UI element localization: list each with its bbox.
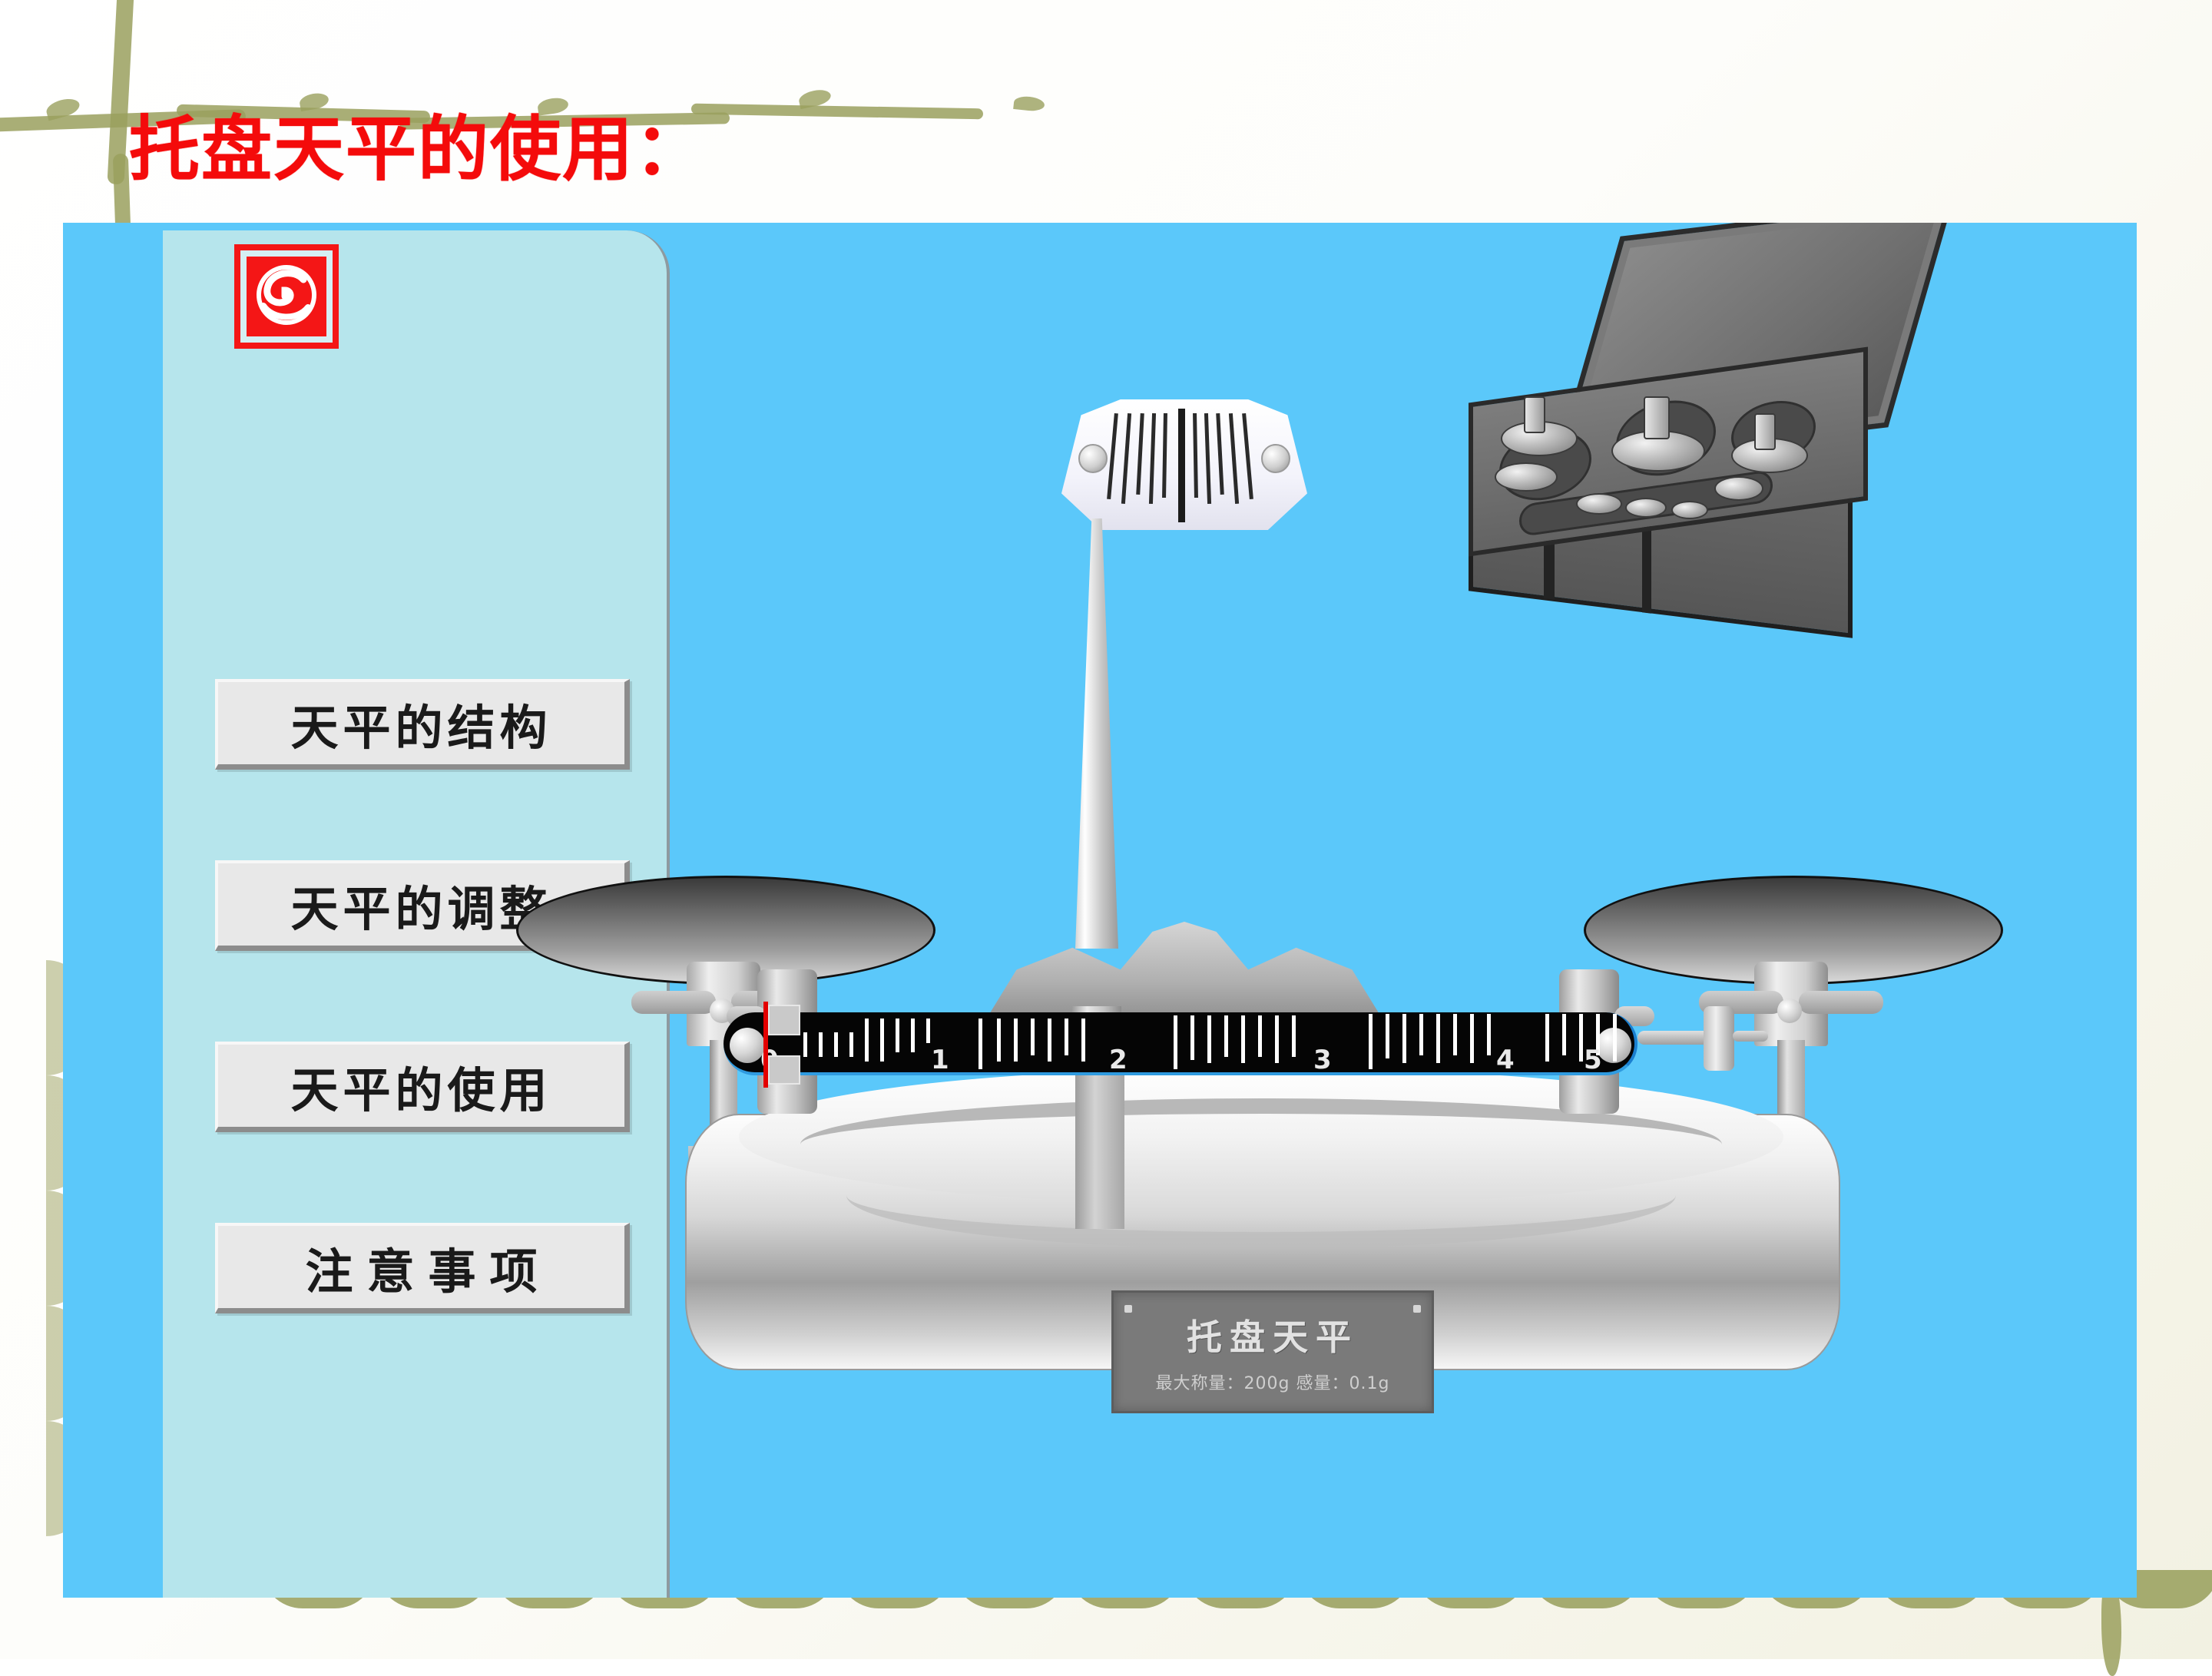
beam-tick-label: 1 [931,1045,949,1075]
rider-slider[interactable] [763,1005,800,1085]
screw-icon [1078,444,1108,473]
sidebar-item-structure[interactable]: 天平的结构 [215,679,630,770]
beam-tick-label: 2 [1109,1045,1128,1075]
base-center-block [1075,1075,1124,1229]
sidebar-item-label: 天平的结构 [290,689,551,758]
balance-illustration: 0 1 2 3 4 5 5 托盘天平 最大称量：200g 感量：0.1g [731,399,1791,1552]
sidebar-item-label: 注意事项 [291,1233,551,1302]
sidebar-item-notes[interactable]: 注意事项 [215,1223,630,1313]
red-square-logo-icon [247,257,326,336]
beam-tick-label-5: 5 [1584,1045,1602,1075]
nameplate-subtitle: 最大称量：200g 感量：0.1g [1156,1370,1390,1394]
sidebar-item-label: 天平的调整 [290,870,551,939]
beam-tick-label: 3 [1313,1045,1332,1075]
pointer-needle [1178,409,1185,522]
screw-icon [1261,444,1290,473]
pointer-stem [1075,518,1118,949]
sidebar-item-label: 天平的使用 [290,1052,551,1121]
nameplate-title: 托盘天平 [1187,1310,1359,1360]
page-title: 托盘天平的使用： [129,92,707,194]
graduated-beam: 0 1 2 3 4 5 5 [724,1006,1637,1086]
logo-badge [234,244,339,349]
balance-nameplate: 托盘天平 最大称量：200g 感量：0.1g [1111,1290,1434,1413]
sidebar-item-usage[interactable]: 天平的使用 [215,1042,630,1132]
leveling-screw-knob[interactable] [1637,997,1768,1081]
slide-canvas: 天平的结构 天平的调整 天平的使用 注意事项 [63,223,2137,1598]
sidebar-nav: 天平的结构 天平的调整 天平的使用 注意事项 [215,679,645,1404]
balance-pan-left [516,876,931,999]
pointer-scale-plate [1061,399,1307,530]
balance-pan-right [1584,876,1998,999]
beam-tick-label: 4 [1496,1045,1515,1075]
